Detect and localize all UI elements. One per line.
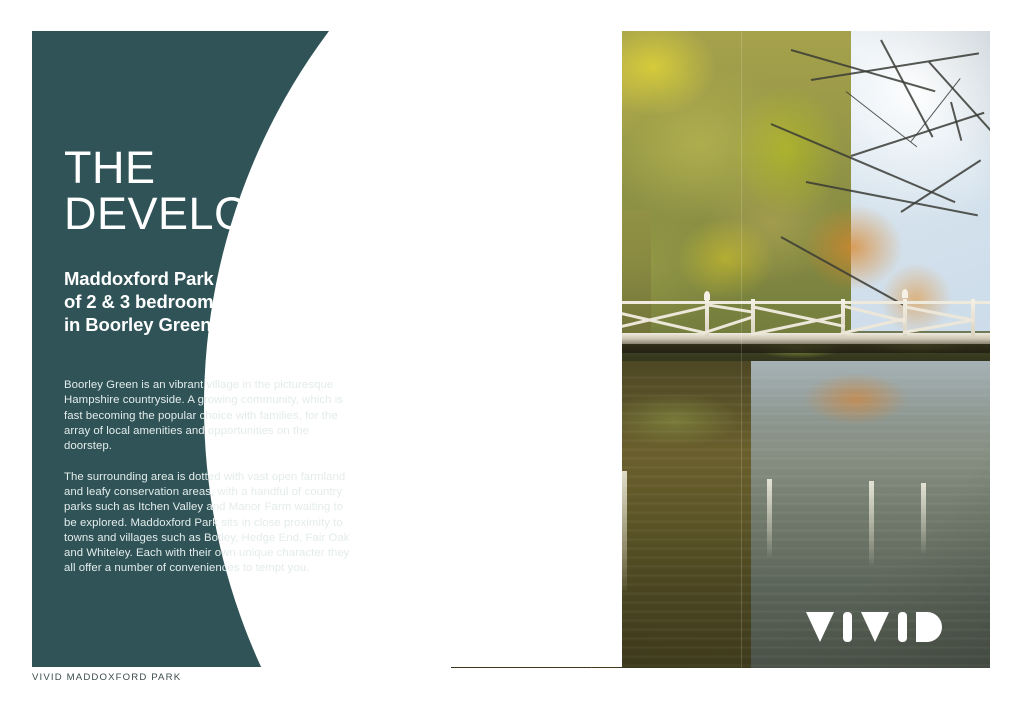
logo-letter-i-2 [898,612,907,642]
logo-letter-i-1 [843,612,852,642]
bare-branches-region [751,31,990,331]
logo-letter-v-1 [806,612,834,642]
page-subtitle: Maddoxford Park is a selection of 2 & 3 … [64,267,404,336]
panel-content: THE DEVELOPMENT Maddoxford Park is a sel… [64,31,404,588]
title-line-2: DEVELOPMENT [64,191,404,237]
logo-letter-v-2 [861,612,889,642]
page-footer: VIVID MADDOXFORD PARK [32,672,181,683]
subtitle-line-3: in Boorley Green [64,313,404,336]
subtitle-line-2: of 2 & 3 bedroom homes located [64,290,404,313]
vivid-logo [806,612,942,642]
body-paragraph-2: The surrounding area is dotted with vast… [64,470,356,577]
page-title: THE DEVELOPMENT [64,145,404,237]
brochure-page: THE DEVELOPMENT Maddoxford Park is a sel… [0,0,1024,701]
subtitle-line-1: Maddoxford Park is a selection [64,267,404,290]
title-line-1: THE [64,145,404,191]
body-paragraph-1: Boorley Green is an vibrant village in t… [64,378,356,454]
logo-letter-d [916,612,942,642]
